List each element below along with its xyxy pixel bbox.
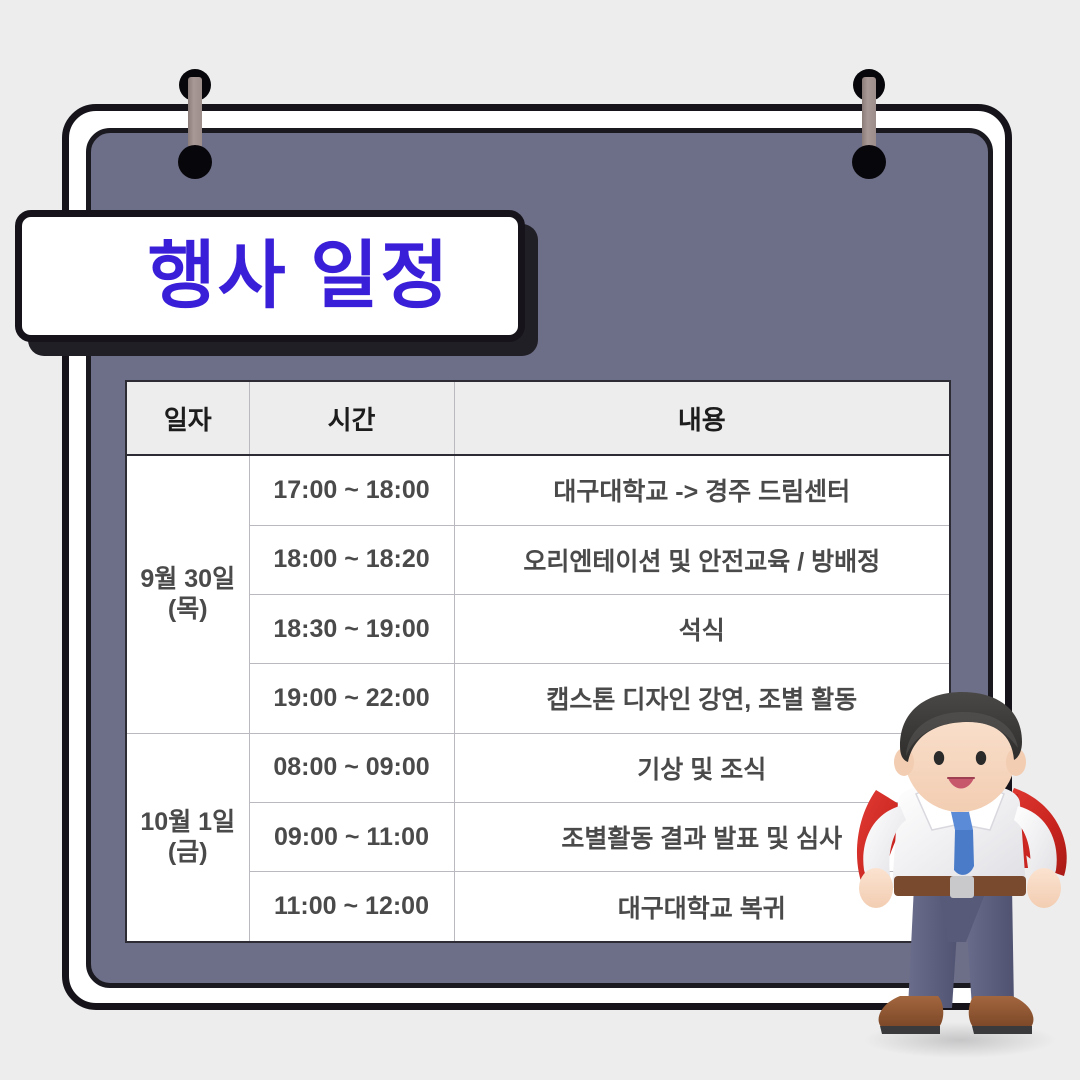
table-row: 18:30 ~ 19:00 석식 xyxy=(126,595,950,664)
time-cell: 09:00 ~ 11:00 xyxy=(249,802,454,871)
time-cell: 18:30 ~ 19:00 xyxy=(249,595,454,664)
column-header-time: 시간 xyxy=(249,381,454,455)
superhero-businessman-icon xyxy=(842,690,1080,1070)
table-row: 18:00 ~ 18:20 오리엔테이션 및 안전교육 / 방배정 xyxy=(126,525,950,594)
time-cell: 18:00 ~ 18:20 xyxy=(249,525,454,594)
table-body: 9월 30일 (목) 17:00 ~ 18:00 대구대학교 -> 경주 드림센… xyxy=(126,455,950,942)
date-cell-group-1: 10월 1일 (금) xyxy=(126,733,249,942)
time-cell: 17:00 ~ 18:00 xyxy=(249,455,454,525)
table-header-row: 일자 시간 내용 xyxy=(126,381,950,455)
page-title: 행사 일정 xyxy=(90,239,451,313)
date-cell-group-0: 9월 30일 (목) xyxy=(126,455,249,733)
table-row: 10월 1일 (금) 08:00 ~ 09:00 기상 및 조식 xyxy=(126,733,950,802)
table-row: 09:00 ~ 11:00 조별활동 결과 발표 및 심사 xyxy=(126,802,950,871)
column-header-content: 내용 xyxy=(454,381,950,455)
content-cell: 대구대학교 -> 경주 드림센터 xyxy=(454,455,950,525)
pin-left-bottom-knob xyxy=(178,145,212,179)
table-row: 19:00 ~ 22:00 캡스톤 디자인 강연, 조별 활동 xyxy=(126,664,950,733)
time-cell: 08:00 ~ 09:00 xyxy=(249,733,454,802)
date-line-2: (금) xyxy=(168,838,208,866)
table-row: 11:00 ~ 12:00 대구대학교 복귀 xyxy=(126,872,950,942)
time-cell: 19:00 ~ 22:00 xyxy=(249,664,454,733)
table-row: 9월 30일 (목) 17:00 ~ 18:00 대구대학교 -> 경주 드림센… xyxy=(126,455,950,525)
column-header-date: 일자 xyxy=(126,381,249,455)
content-cell: 오리엔테이션 및 안전교육 / 방배정 xyxy=(454,525,950,594)
pin-right-bottom-knob xyxy=(852,145,886,179)
poster-stage: 행사 일정 일자 시간 내용 9월 30일 xyxy=(0,0,1080,1080)
pin-left-icon xyxy=(173,55,217,175)
pin-right-icon xyxy=(847,55,891,175)
schedule-table: 일자 시간 내용 9월 30일 (목) 17:00 ~ 18:00 대구대학교 … xyxy=(125,380,951,943)
table-header: 일자 시간 내용 xyxy=(126,381,950,455)
schedule-table-wrapper: 일자 시간 내용 9월 30일 (목) 17:00 ~ 18:00 대구대학교 … xyxy=(125,380,951,943)
date-line-1: 10월 1일 xyxy=(140,808,235,836)
time-cell: 11:00 ~ 12:00 xyxy=(249,872,454,942)
title-banner: 행사 일정 xyxy=(15,210,525,342)
date-line-2: (목) xyxy=(168,595,208,623)
date-line-1: 9월 30일 xyxy=(140,565,235,593)
content-cell: 석식 xyxy=(454,595,950,664)
